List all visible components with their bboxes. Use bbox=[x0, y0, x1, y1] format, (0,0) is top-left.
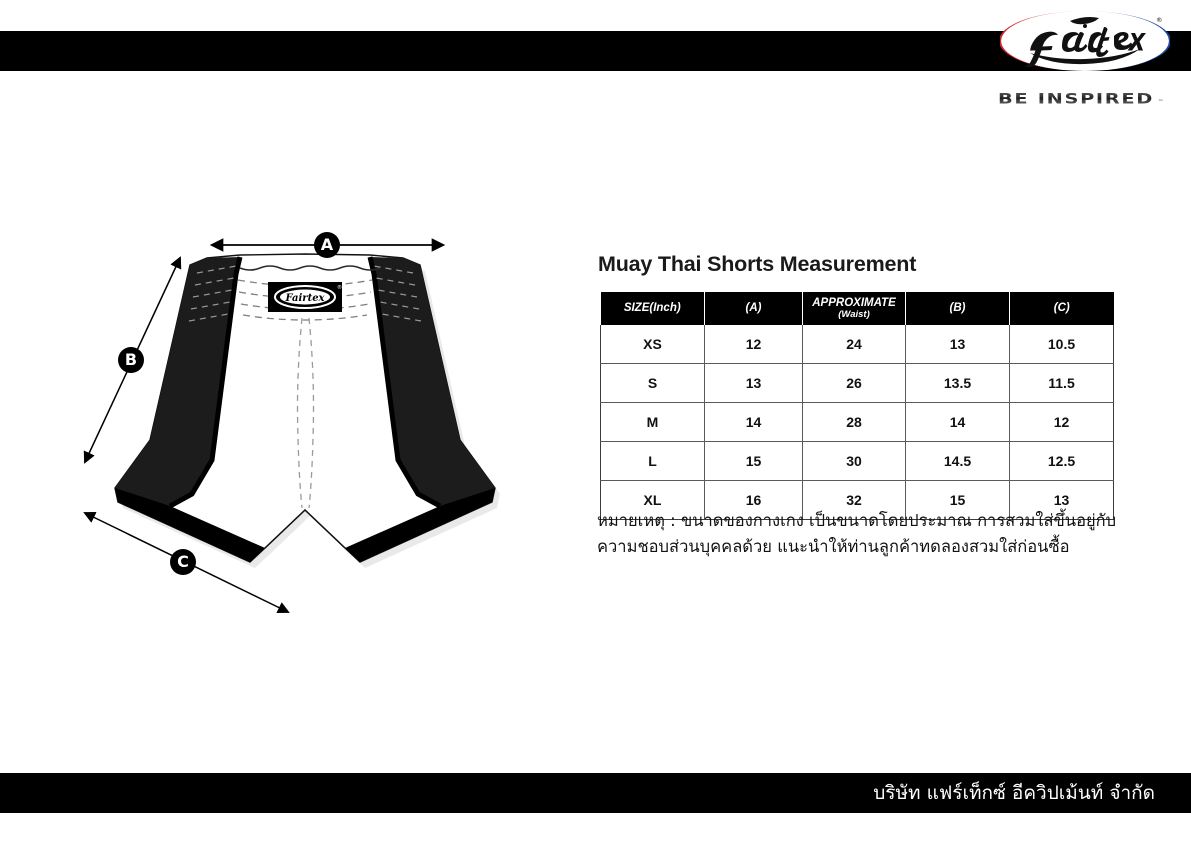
bottom-black-bar: บริษัท แฟร์เท็กซ์ อีควิปเม้นท์ จำกัด bbox=[0, 773, 1191, 813]
cell-b: 14.5 bbox=[906, 442, 1010, 481]
cell-waist: 28 bbox=[803, 403, 906, 442]
cell-b: 13.5 bbox=[906, 364, 1010, 403]
dimension-label-a: A bbox=[314, 232, 340, 258]
company-name: บริษัท แฟร์เท็กซ์ อีควิปเม้นท์ จำกัด bbox=[873, 773, 1155, 813]
cell-size: M bbox=[601, 403, 705, 442]
cell-size: XS bbox=[601, 325, 705, 364]
fairtex-oval-logo-icon: ® bbox=[1000, 10, 1170, 72]
cell-c: 11.5 bbox=[1010, 364, 1114, 403]
cell-b: 13 bbox=[906, 325, 1010, 364]
cell-c: 12 bbox=[1010, 403, 1114, 442]
table-header-approximate-sub: (Waist) bbox=[805, 310, 903, 321]
size-chart-page: ® BE INSPIRED ™ bbox=[0, 0, 1191, 842]
dimension-label-b: B bbox=[118, 347, 144, 373]
cell-a: 12 bbox=[705, 325, 803, 364]
svg-text:™: ™ bbox=[1158, 99, 1164, 106]
cell-a: 14 bbox=[705, 403, 803, 442]
fairtex-logo: ® BE INSPIRED ™ bbox=[994, 6, 1176, 110]
table-row: M 14 28 14 12 bbox=[601, 403, 1114, 442]
svg-text:®: ® bbox=[337, 284, 342, 291]
table-row: L 15 30 14.5 12.5 bbox=[601, 442, 1114, 481]
cell-c: 10.5 bbox=[1010, 325, 1114, 364]
size-note: หมายเหตุ : ขนาดของกางเกง เป็นขนาดโดยประม… bbox=[597, 508, 1137, 559]
dimension-label-c: C bbox=[170, 549, 196, 575]
table-header-b: (B) bbox=[906, 292, 1010, 325]
cell-b: 14 bbox=[906, 403, 1010, 442]
cell-size: S bbox=[601, 364, 705, 403]
svg-text:®: ® bbox=[1156, 16, 1163, 24]
shorts-diagram: Fairtex ® A B C bbox=[40, 210, 570, 640]
waistband-fairtex-label: Fairtex ® bbox=[268, 282, 342, 312]
table-row: XS 12 24 13 10.5 bbox=[601, 325, 1114, 364]
table-row: S 13 26 13.5 11.5 bbox=[601, 364, 1114, 403]
table-header-c: (C) bbox=[1010, 292, 1114, 325]
cell-c: 12.5 bbox=[1010, 442, 1114, 481]
page-title: Muay Thai Shorts Measurement bbox=[598, 252, 916, 277]
size-table: SIZE(Inch) (A) APPROXIMATE (Waist) (B) (… bbox=[600, 292, 1114, 520]
cell-a: 13 bbox=[705, 364, 803, 403]
size-note-line-1: หมายเหตุ : ขนาดของกางเกง เป็นขนาดโดยประม… bbox=[597, 508, 1137, 534]
table-header-size: SIZE(Inch) bbox=[601, 292, 705, 325]
table-header-approximate-main: APPROXIMATE bbox=[812, 297, 896, 309]
cell-size: L bbox=[601, 442, 705, 481]
cell-waist: 26 bbox=[803, 364, 906, 403]
table-header-approximate-waist: APPROXIMATE (Waist) bbox=[803, 292, 906, 325]
svg-text:BE INSPIRED: BE INSPIRED bbox=[998, 92, 1154, 108]
size-note-line-2: ความชอบส่วนบุคคลด้วย แนะนำให้ท่านลูกค้าท… bbox=[597, 534, 1137, 560]
be-inspired-tagline: BE INSPIRED ™ bbox=[998, 90, 1172, 108]
table-header-row: SIZE(Inch) (A) APPROXIMATE (Waist) (B) (… bbox=[601, 292, 1114, 325]
cell-a: 15 bbox=[705, 442, 803, 481]
svg-text:Fairtex: Fairtex bbox=[284, 293, 325, 304]
table-header-a: (A) bbox=[705, 292, 803, 325]
cell-waist: 24 bbox=[803, 325, 906, 364]
cell-waist: 30 bbox=[803, 442, 906, 481]
